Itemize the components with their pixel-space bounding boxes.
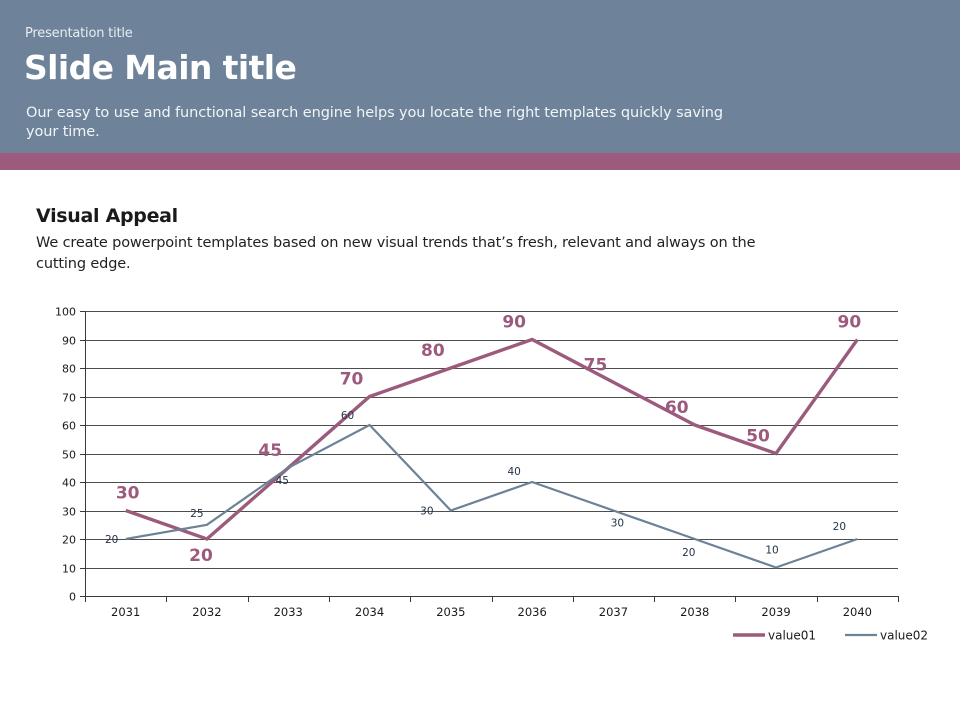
y-tick-label: 30 bbox=[62, 506, 76, 519]
accent-bar-divider bbox=[0, 153, 960, 170]
data-label-value02: 60 bbox=[341, 410, 354, 422]
x-tick-label: 2037 bbox=[599, 605, 628, 619]
line-chart: 0102030405060708090100 20312032203320342… bbox=[0, 295, 960, 660]
chart-y-axis-labels: 0102030405060708090100 bbox=[55, 306, 76, 604]
data-label-value02: 30 bbox=[420, 506, 433, 518]
y-tick-label: 10 bbox=[62, 563, 76, 576]
slide-header: Presentation title Slide Main title Our … bbox=[0, 0, 960, 153]
data-label-value01: 75 bbox=[584, 355, 608, 375]
presentation-title: Presentation title bbox=[25, 26, 133, 41]
data-label-value02: 25 bbox=[190, 508, 203, 520]
y-tick-label: 60 bbox=[62, 420, 76, 433]
y-tick-label: 20 bbox=[62, 534, 76, 547]
legend-label-value02: value02 bbox=[880, 629, 928, 643]
section-heading: Visual Appeal bbox=[36, 205, 178, 227]
data-label-value01: 70 bbox=[340, 370, 364, 390]
data-label-value01: 90 bbox=[502, 313, 526, 333]
section-paragraph: We create powerpoint templates based on … bbox=[36, 233, 766, 275]
y-tick-label: 70 bbox=[62, 392, 76, 405]
x-tick-label: 2040 bbox=[843, 605, 872, 619]
chart-x-axis-labels: 2031203220332034203520362037203820392040 bbox=[111, 605, 872, 619]
x-tick-label: 2036 bbox=[518, 605, 547, 619]
x-tick-label: 2034 bbox=[355, 605, 384, 619]
y-tick-label: 100 bbox=[55, 306, 76, 319]
data-label-value01: 90 bbox=[838, 313, 862, 333]
x-tick-label: 2035 bbox=[436, 605, 465, 619]
data-label-value02: 20 bbox=[105, 534, 118, 546]
data-label-value02: 20 bbox=[682, 547, 695, 559]
data-label-value02: 30 bbox=[611, 518, 624, 530]
slide-subtitle: Our easy to use and functional search en… bbox=[26, 104, 726, 142]
x-tick-label: 2033 bbox=[274, 605, 303, 619]
x-tick-label: 2032 bbox=[192, 605, 221, 619]
data-label-value01: 50 bbox=[746, 427, 770, 447]
legend-label-value01: value01 bbox=[768, 629, 816, 643]
x-tick-label: 2031 bbox=[111, 605, 140, 619]
y-tick-label: 90 bbox=[62, 335, 76, 348]
data-label-value01: 45 bbox=[258, 441, 282, 461]
data-label-value01: 20 bbox=[189, 546, 213, 566]
data-label-value01: 30 bbox=[116, 484, 140, 504]
y-tick-label: 50 bbox=[62, 449, 76, 462]
x-tick-label: 2039 bbox=[761, 605, 790, 619]
data-label-value01: 60 bbox=[665, 398, 689, 418]
chart-legend: value01value02 bbox=[733, 629, 928, 643]
data-label-value02: 40 bbox=[507, 466, 520, 478]
data-label-value02: 20 bbox=[833, 521, 846, 533]
chart-canvas: 0102030405060708090100 20312032203320342… bbox=[0, 295, 960, 660]
y-tick-label: 40 bbox=[62, 477, 76, 490]
y-tick-label: 0 bbox=[69, 591, 76, 604]
y-tick-label: 80 bbox=[62, 363, 76, 376]
data-label-value02: 10 bbox=[765, 545, 778, 557]
data-label-value02: 45 bbox=[276, 475, 289, 487]
slide-main-title: Slide Main title bbox=[24, 48, 296, 87]
x-tick-label: 2038 bbox=[680, 605, 709, 619]
data-label-value01: 80 bbox=[421, 341, 445, 361]
chart-series-lines bbox=[126, 340, 858, 568]
